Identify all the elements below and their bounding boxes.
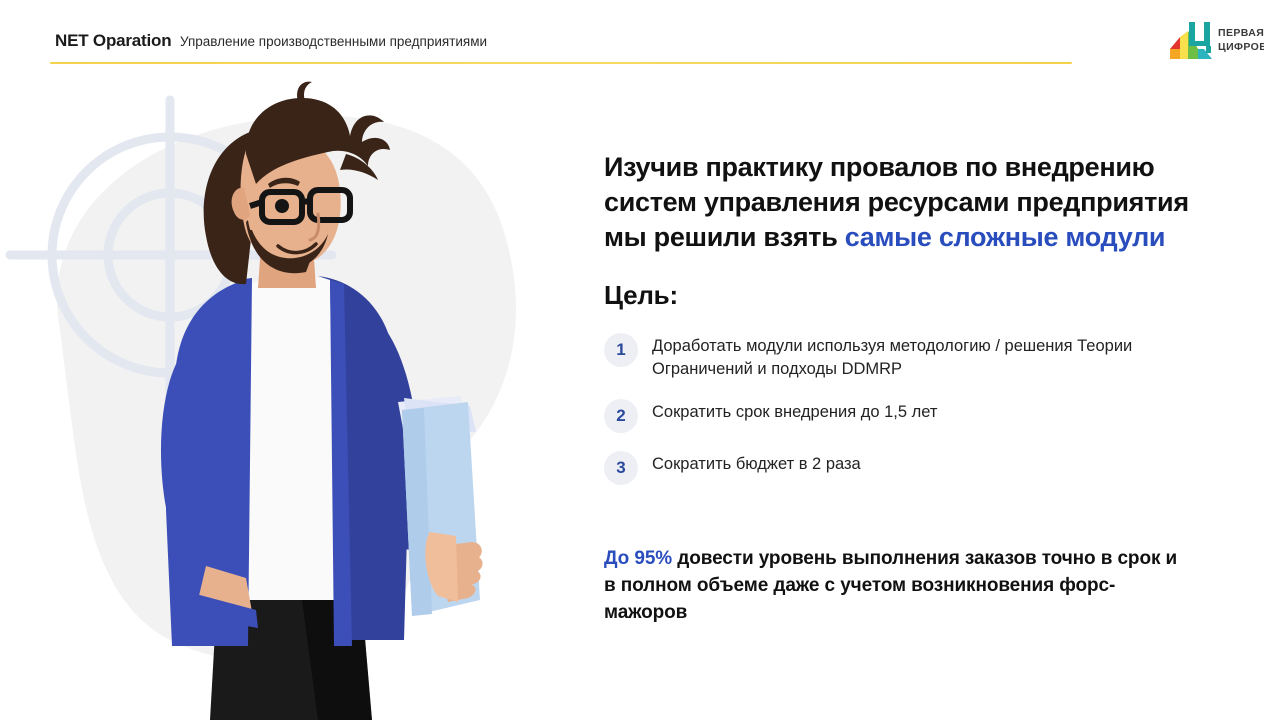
goal-text-2: Сократить срок внедрения до 1,5 лет	[652, 397, 937, 424]
closing-highlight: До 95%	[604, 548, 672, 569]
logo-mark-icon	[1170, 22, 1212, 59]
tshirt	[236, 275, 340, 600]
closing-statement: До 95% довести уровень выполнения заказо…	[604, 545, 1184, 626]
product-title: NET Oparation	[55, 31, 171, 51]
goal-text-1: Доработать модули используя методологию …	[652, 331, 1192, 381]
product-subtitle: Управление производственными предприятия…	[180, 34, 487, 49]
list-item: 1 Доработать модули используя методологи…	[604, 331, 1214, 381]
goal-badge-1: 1	[604, 333, 638, 367]
closing-text: довести уровень выполнения заказов точно…	[604, 548, 1177, 623]
list-item: 3 Сократить бюджет в 2 раза	[604, 449, 1214, 485]
slide-header: NET Oparation Управление производственны…	[0, 0, 1280, 78]
svg-text:ЦИФРОВАЯ: ЦИФРОВАЯ	[1218, 41, 1264, 53]
goal-badge-2: 2	[604, 399, 638, 433]
headline-line-3-plain: мы решили взять	[604, 222, 845, 252]
headline-line-2: систем управления ресурсами предприятия	[604, 187, 1189, 217]
headline-highlight: самые сложные модули	[845, 222, 1166, 252]
slide: NET Oparation Управление производственны…	[0, 0, 1280, 720]
logo-wordmark: ПЕРВАЯ ЦИФРОВАЯ	[1218, 27, 1264, 53]
svg-text:ПЕРВАЯ: ПЕРВАЯ	[1218, 27, 1264, 39]
headline-line-1: Изучив практику провалов по внедрению	[604, 152, 1154, 182]
content-column: Изучив практику провалов по внедрению си…	[604, 150, 1214, 626]
header-divider	[50, 62, 1072, 64]
company-logo: ПЕРВАЯ ЦИФРОВАЯ	[1168, 19, 1264, 61]
goal-text-3: Сократить бюджет в 2 раза	[652, 449, 861, 476]
eye	[275, 199, 289, 213]
man-with-documents-illustration	[0, 80, 600, 720]
headline: Изучив практику провалов по внедрению си…	[604, 150, 1214, 255]
goal-badge-3: 3	[604, 451, 638, 485]
goal-label: Цель:	[604, 279, 1214, 311]
list-item: 2 Сократить срок внедрения до 1,5 лет	[604, 397, 1214, 433]
goal-list: 1 Доработать модули используя методологи…	[604, 331, 1214, 485]
